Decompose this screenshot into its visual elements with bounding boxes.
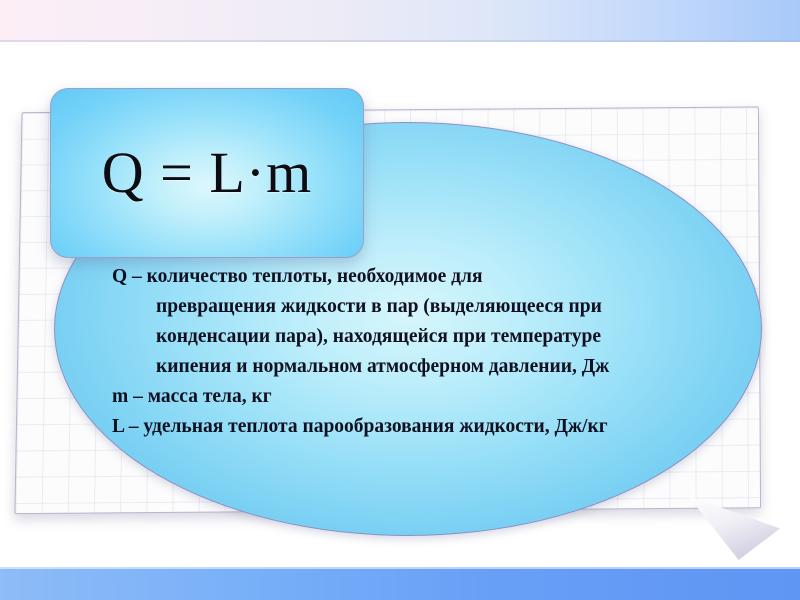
definition-line-m: m – масса тела, кг bbox=[112, 382, 752, 412]
definitions-block: Q – количество теплоты, необходимое для … bbox=[112, 262, 752, 442]
formula-text: Q = L·m bbox=[102, 144, 312, 202]
definition-line-q-4: кипения и нормальном атмосферном давлени… bbox=[112, 352, 752, 382]
definition-line-q-2: превращения жидкости в пар (выделяющееся… bbox=[112, 292, 752, 322]
bottom-decorative-band bbox=[0, 567, 800, 600]
formula-callout-box: Q = L·m bbox=[50, 88, 364, 258]
top-decorative-band bbox=[0, 0, 800, 42]
definition-line-q-3: конденсации пара), находящейся при темпе… bbox=[112, 322, 752, 352]
definition-line-l: L – удельная теплота парообразования жид… bbox=[112, 412, 752, 442]
definition-line-q-1: Q – количество теплоты, необходимое для bbox=[112, 262, 752, 292]
slide-canvas: Q = L·m Q – количество теплоты, необходи… bbox=[0, 0, 800, 600]
